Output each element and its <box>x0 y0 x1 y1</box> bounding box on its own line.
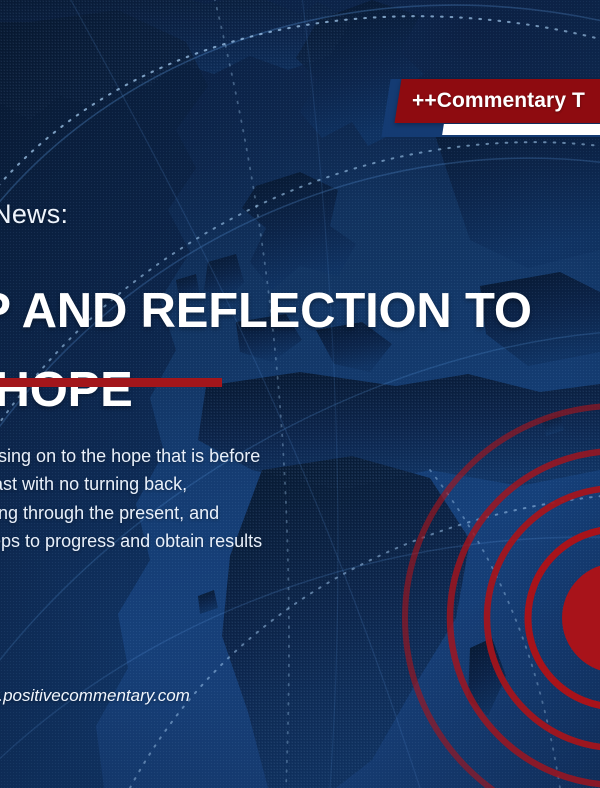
breaking-news-kicker: ng News: <box>0 199 68 230</box>
headline-underline-rule <box>0 378 222 387</box>
footer-website-url: mation: www.positivecommentary.com <box>0 686 190 706</box>
tag-banner-white-strip <box>442 124 600 135</box>
page-title: CAP AND REFLECTION TO NG HOPE <box>0 272 600 430</box>
body-paragraph: nd pressing on to the hope that is befor… <box>0 442 600 584</box>
commentary-tag-label: ++Commentary T <box>412 79 600 123</box>
news-banner-canvas: ++Commentary T ng News: CAP AND REFLECTI… <box>0 0 600 788</box>
